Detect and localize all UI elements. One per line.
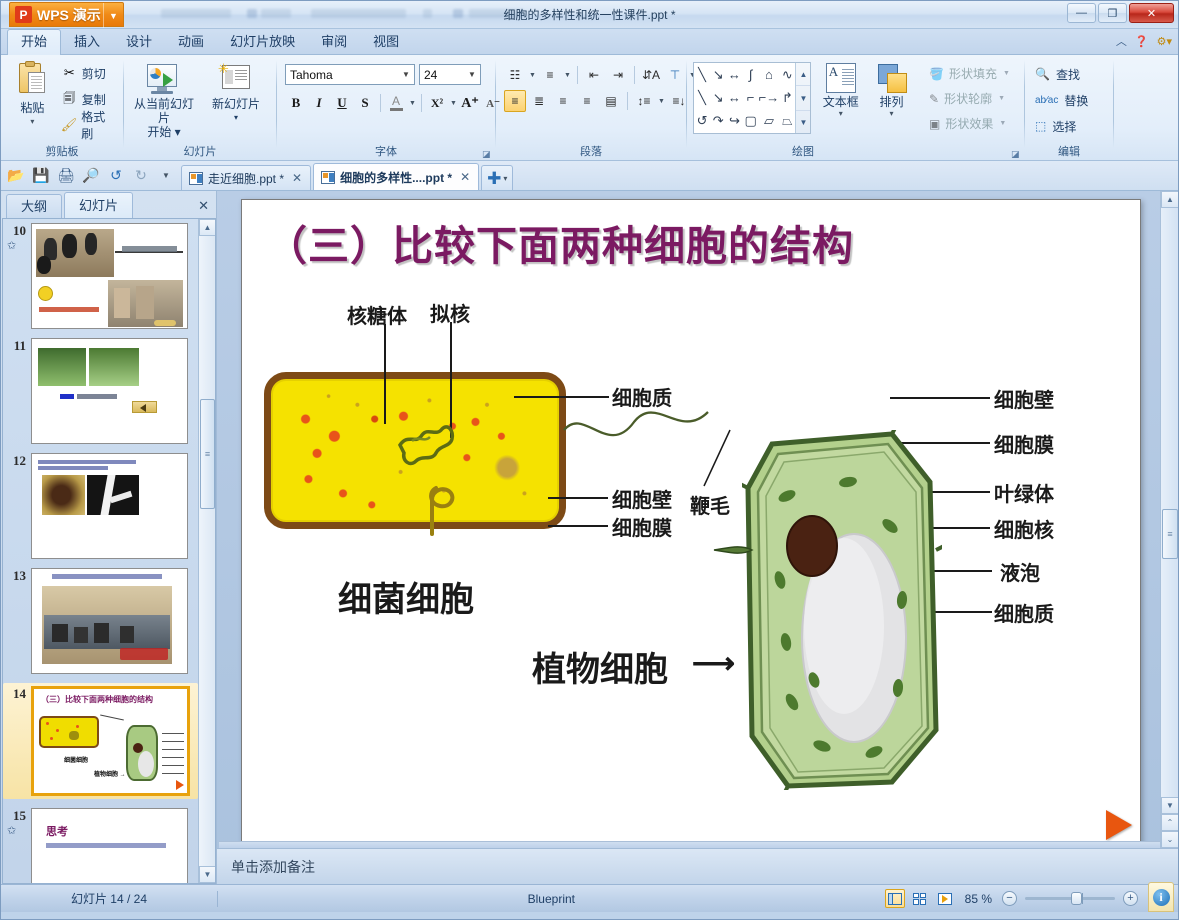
thumbnail-canvas [31, 568, 188, 674]
label-nucleus: 细胞核 [994, 514, 1054, 543]
shape-scribble-icon[interactable]: ∿ [779, 63, 795, 86]
leader-cell-wall-bact [548, 497, 608, 499]
shape-gallery-scroll[interactable]: ▲ ▼ ▼ [795, 63, 810, 133]
thumbnail-canvas [31, 223, 188, 329]
ppt-file-icon [321, 171, 335, 184]
shape-elbow-arrow-icon[interactable]: ⌐→ [759, 86, 780, 109]
zoom-default-tick [1082, 893, 1083, 904]
scrollbar-thumb[interactable]: ≡ [200, 399, 215, 509]
numbering-caret[interactable]: ▼ [563, 72, 572, 79]
label-flagellum: 鞭毛 [690, 490, 730, 519]
justify-button[interactable]: ≡ [576, 90, 598, 112]
font-size-value: 24 [424, 68, 437, 82]
slide-scroll-up-button[interactable]: ▲ [1161, 191, 1179, 208]
font-color-button[interactable]: A [385, 92, 407, 114]
chevron-up-icon[interactable]: ︿ [1116, 33, 1127, 49]
leader-nucleoid [450, 322, 452, 438]
drawing-dialog-launcher[interactable]: ◪ [1011, 149, 1022, 160]
align-right-button[interactable]: ≡ [552, 90, 574, 112]
thumbnail-canvas: 思考 [31, 808, 188, 884]
minimize-button[interactable]: — [1067, 3, 1096, 23]
shape-effects-button[interactable]: ▣ 形状效果 ▼ [925, 111, 1007, 136]
notes-pane[interactable]: 单击添加备注 [217, 848, 1178, 884]
label-cell-membrane-plant: 细胞膜 [994, 429, 1054, 458]
thumbnail-number: 12 [5, 453, 31, 469]
replace-icon: ab⁄ac [1035, 95, 1058, 106]
label-cell-membrane-bact: 细胞膜 [612, 512, 672, 541]
zoom-slider[interactable] [1025, 897, 1115, 900]
paste-label: 粘贴 [20, 99, 44, 116]
start-slide-label-1: 从当前幻灯片 [130, 97, 198, 125]
plus-icon[interactable]: ✚ [487, 170, 501, 187]
new-slide-icon: ✳ [216, 61, 256, 97]
textbox-label: 文本框 [823, 95, 859, 109]
redo-icon[interactable]: ↻ [130, 164, 152, 186]
tab-slides[interactable]: 幻灯片 [64, 192, 133, 218]
new-tab-caret-icon[interactable]: ▾ [503, 174, 507, 183]
align-left-button[interactable]: ≡ [504, 90, 526, 112]
label-plant-cell-name: 植物细胞 [532, 642, 668, 691]
tab-design[interactable]: 设计 [113, 29, 165, 55]
thumbnail-number: 10 [5, 223, 31, 239]
tab-animation[interactable]: 动画 [165, 29, 217, 55]
format-painter-label: 格式刷 [81, 108, 114, 142]
zoom-out-button[interactable]: − [1002, 891, 1017, 906]
status-bar: 幻灯片 14 / 24 Blueprint 85 % − + i [1, 884, 1178, 912]
document-tab-2-close-icon[interactable]: ✕ [460, 170, 470, 184]
replace-label: 替换 [1064, 92, 1088, 109]
ribbon-group-drawing: ╲ ↘ ↔ ∫ ⌂ ∿ ╲ ↘ ↔ ⌐ ⌐→ ↱ ↺ ↷ ↪ [687, 55, 919, 161]
start-from-current-slide-icon [144, 61, 184, 97]
shape-arrow2-icon[interactable]: ↘ [710, 86, 726, 109]
arrange-caret[interactable]: ▾ [890, 109, 894, 118]
start-slide-label-2: 开始 ▾ [147, 125, 180, 139]
shape-double-arrow2-icon[interactable]: ↔ [726, 86, 742, 109]
slide-scroll-down-button[interactable]: ▼ [1161, 797, 1179, 814]
thumbnail-number: 13 [5, 568, 31, 584]
slide-title[interactable]: （三）比较下面两种细胞的结构 [266, 212, 854, 272]
ribbon-group-paragraph: ☷ ▼ ≡ ▼ ⇤ ⇥ ⇵A ⊤ ▼ ≡ ≣ ≡ ≡ ▤ [496, 55, 686, 161]
shape-curve-conn3-icon[interactable]: ↪ [726, 110, 742, 133]
shape-outline-label: 形状轮廓 [944, 90, 992, 107]
new-document-tab[interactable]: ✚ ▾ [481, 165, 513, 190]
ribbon: 粘贴 ▾ ✂ 剪切 🗐 复制 🖌 格式刷 [1, 55, 1178, 161]
numbering-button[interactable]: ≡ [539, 64, 561, 86]
shape-effects-caret[interactable]: ▼ [998, 120, 1007, 127]
scissors-icon: ✂ [61, 65, 78, 82]
slide-show-view-button[interactable] [935, 889, 955, 908]
arrange-button[interactable]: 排列 ▾ [870, 58, 913, 118]
zoom-level: 85 % [960, 892, 997, 906]
shape-elbow-arrow2-icon[interactable]: ↱ [779, 86, 795, 109]
window-controls: — ❐ ✕ [1067, 3, 1174, 23]
clipboard-group-title: 剪贴板 [7, 144, 117, 161]
copy-icon: 🗐 [61, 91, 78, 108]
quick-access-toolbar: 📂 💾 🖨 🔎 ↺ ↻ ▼ [1, 160, 181, 190]
italic-button[interactable]: I [308, 92, 330, 114]
document-tab-1[interactable]: 走近细胞.ppt * ✕ [181, 165, 311, 190]
plant-cell-arrow-icon: ⟶ [692, 646, 735, 681]
bullets-button[interactable]: ☷ [504, 64, 526, 86]
slide-canvas[interactable]: （三）比较下面两种细胞的结构 核糖体 [241, 199, 1141, 847]
workspace: 大纲 幻灯片 ✕ 10 ✩ [1, 191, 1178, 884]
shape-parallelogram-icon[interactable]: ▱ [759, 110, 780, 133]
paste-dropdown-caret[interactable]: ▾ [30, 117, 34, 126]
font-name-input[interactable]: Tahoma ▼ [285, 64, 415, 85]
label-chloroplast: 叶绿体 [994, 478, 1054, 507]
paste-button[interactable]: 粘贴 ▾ [7, 58, 58, 126]
thumbnail-slide-13[interactable]: 13 [3, 568, 198, 674]
wps-presentation-window: P WPS 演示 ▼ 细胞的多样性和统一性课件.ppt * — ❐ ✕ 开始 插… [0, 0, 1179, 920]
previous-slide-button[interactable]: ⌃ [1161, 814, 1179, 831]
normal-view-button[interactable] [885, 889, 905, 908]
customize-icon[interactable]: ▼ [155, 164, 177, 186]
scroll-up-button[interactable]: ▲ [199, 219, 216, 236]
thumbnail-title: （三）比较下面两种细胞的结构 [41, 694, 171, 704]
flagellum-shape [562, 396, 712, 466]
document-tab-1-label: 走近细胞.ppt * [208, 170, 284, 187]
notes-placeholder: 单击添加备注 [217, 857, 315, 877]
shape-gallery[interactable]: ╲ ↘ ↔ ∫ ⌂ ∿ ╲ ↘ ↔ ⌐ ⌐→ ↱ ↺ ↷ ↪ [693, 62, 811, 134]
select-icon: ⬚ [1035, 119, 1046, 133]
shape-curve-icon[interactable]: ∫ [743, 63, 759, 86]
font-group-title: 字体 [283, 144, 489, 161]
save-icon[interactable]: 💾 [30, 164, 52, 186]
chevron-down-icon[interactable]: ▼ [464, 65, 480, 84]
new-slide-label: 新幻灯片 [212, 97, 260, 111]
cut-button[interactable]: ✂ 剪切 [58, 60, 117, 86]
leader-cell-membrane-bact [548, 525, 608, 527]
select-label: 选择 [1052, 118, 1076, 135]
ribbon-group-slides: 从当前幻灯片 开始 ▾ ✳ 新幻灯片 ▾ 幻灯片 [124, 55, 276, 161]
cut-label: 剪切 [82, 65, 106, 82]
slide-canvas-wrapper: （三）比较下面两种细胞的结构 核糖体 [241, 199, 1141, 847]
thumbnail-slide-14[interactable]: 14 （三）比较下面两种细胞的结构 细菌细胞 植物细胞 → [3, 683, 198, 799]
increase-font-size-button[interactable]: A⁺ [459, 92, 481, 114]
tab-start[interactable]: 开始 [7, 29, 61, 55]
thumbnail-slide-11[interactable]: 11 [3, 338, 198, 444]
format-painter-button[interactable]: 🖌 格式刷 [58, 112, 117, 138]
close-navigator-icon[interactable]: ✕ [198, 198, 209, 214]
arrange-icon [872, 61, 912, 95]
slide-area-scrollbar[interactable]: ▲ ≡ ▼ ⌃ ⌄ [1160, 191, 1178, 848]
close-button[interactable]: ✕ [1129, 3, 1174, 23]
label-ribosome: 核糖体 [347, 300, 407, 329]
shape-curve-conn2-icon[interactable]: ↷ [710, 110, 726, 133]
textbox-caret[interactable]: ▾ [839, 109, 843, 118]
find-button[interactable]: 🔍 查找 [1031, 61, 1080, 87]
slide-show-icon [938, 893, 952, 905]
info-badge[interactable]: i [1148, 882, 1174, 912]
align-text-button[interactable]: ⊤ [664, 64, 686, 86]
zoom-in-button[interactable]: + [1123, 891, 1138, 906]
group-divider [1113, 60, 1114, 148]
leader-ribosome [384, 324, 386, 424]
ribbon-right-controls: ︿ ❓ ⚙▾ [1116, 33, 1172, 49]
document-tab-2-label: 细胞的多样性....ppt * [340, 169, 452, 186]
thumbnail-number: 11 [5, 338, 31, 354]
thumbnail-title: 思考 [46, 823, 68, 839]
decrease-indent-button[interactable]: ⇤ [583, 64, 605, 86]
tab-insert[interactable]: 插入 [61, 29, 113, 55]
increase-indent-button[interactable]: ⇥ [607, 64, 629, 86]
thumbnail-scroll-region: 10 ✩ [3, 219, 198, 883]
undo-icon[interactable]: ↺ [105, 164, 127, 186]
superscript-button[interactable]: X² [426, 92, 448, 114]
shape-freeform-icon[interactable]: ⌂ [759, 63, 780, 86]
strikethrough-button[interactable]: S [354, 92, 376, 114]
paragraph-group-title: 段落 [502, 144, 680, 161]
slide-navigator-pane: 大纲 幻灯片 ✕ 10 ✩ [1, 191, 217, 884]
label-cell-wall-plant: 细胞壁 [994, 384, 1054, 413]
shape-outline-caret[interactable]: ▼ [997, 95, 1006, 102]
ribbon-group-editing: 🔍 查找 ab⁄ac 替换 ⬚ 选择 编辑 [1025, 55, 1113, 161]
shape-effects-icon: ▣ [929, 117, 940, 131]
font-name-value: Tahoma [290, 68, 333, 82]
scroll-down-button[interactable]: ▼ [199, 866, 216, 883]
replace-button[interactable]: ab⁄ac 替换 [1031, 87, 1088, 113]
chevron-down-icon[interactable]: ▼ [398, 65, 414, 84]
find-icon: 🔍 [1035, 67, 1050, 81]
slide-editing-area: （三）比较下面两种细胞的结构 核糖体 [217, 191, 1178, 884]
tab-view[interactable]: 视图 [360, 29, 412, 55]
thumbnail-canvas [31, 338, 188, 444]
editing-group-title: 编辑 [1031, 144, 1107, 161]
shape-elbow-icon[interactable]: ⌐ [743, 86, 759, 109]
drawing-group-title: 绘图 [693, 144, 913, 161]
view-and-zoom-controls: 85 % − + [885, 889, 1178, 908]
shape-arrow-icon[interactable]: ↘ [710, 63, 726, 86]
shape-effects-label: 形状效果 [945, 115, 993, 132]
gallery-scroll-up-icon[interactable]: ▲ [796, 63, 810, 85]
slide-sorter-icon [913, 893, 926, 905]
maximize-button[interactable]: ❐ [1098, 3, 1127, 23]
font-color-icon: A [390, 95, 403, 111]
title-bar: P WPS 演示 ▼ 细胞的多样性和统一性课件.ppt * — ❐ ✕ [1, 1, 1178, 29]
start-from-current-slide-button[interactable]: 从当前幻灯片 开始 ▾ [130, 58, 198, 139]
nucleus-connector [712, 530, 772, 570]
notes-splitter[interactable] [219, 841, 1160, 848]
window-title: 细胞的多样性和统一性课件.ppt * [1, 6, 1178, 23]
line-spacing-caret[interactable]: ▼ [657, 98, 666, 105]
bold-button[interactable]: B [285, 92, 307, 114]
help-icon[interactable]: ❓ [1135, 35, 1149, 48]
print-preview-icon[interactable]: 🔎 [80, 164, 102, 186]
document-tab-1-close-icon[interactable]: ✕ [292, 171, 302, 185]
thumbnail-slide-12[interactable]: 12 [3, 453, 198, 559]
play-triangle-icon[interactable] [1106, 810, 1132, 840]
underline-button[interactable]: U [331, 92, 353, 114]
print-icon[interactable]: 🖨 [55, 164, 77, 186]
format-painter-icon: 🖌 [61, 117, 78, 134]
slide-sorter-view-button[interactable] [910, 889, 930, 908]
ribbon-group-font: Tahoma ▼ 24 ▼ B I U S A [277, 55, 495, 161]
animation-star-icon: ✩ [7, 239, 16, 252]
thumbnail-canvas: （三）比较下面两种细胞的结构 细菌细胞 植物细胞 → [31, 686, 190, 796]
find-label: 查找 [1056, 66, 1080, 83]
slide-thumbnail-list: 10 ✩ [2, 218, 216, 884]
zoom-slider-handle[interactable] [1071, 892, 1082, 905]
textbox-icon [821, 61, 861, 95]
shape-outline-icon: ✎ [929, 92, 939, 106]
plant-cell-shape [742, 430, 942, 790]
document-tab-2[interactable]: 细胞的多样性....ppt * ✕ [313, 163, 479, 190]
gallery-scroll-down-icon[interactable]: ▼ [796, 85, 810, 111]
new-slide-button[interactable]: ✳ 新幻灯片 ▾ [202, 58, 270, 125]
shape-curve-conn-icon[interactable]: ↺ [694, 110, 710, 133]
superscript-caret[interactable]: ▼ [449, 100, 458, 107]
shape-fill-icon: 🪣 [929, 67, 944, 81]
shape-style-commands: 🪣 形状填充 ▼ ✎ 形状轮廓 ▼ ▣ 形状效果 ▼ ◪ [919, 55, 1024, 161]
shape-line-icon[interactable]: ╲ [694, 63, 710, 86]
shape-fill-button[interactable]: 🪣 形状填充 ▼ [925, 61, 1011, 86]
textbox-button[interactable]: 文本框 ▾ [817, 58, 864, 118]
text-direction-button[interactable]: ⇵A [640, 64, 662, 86]
mesosome-shape [392, 468, 492, 548]
thumbnail-number: 15 [5, 808, 31, 824]
shape-style-spacer [925, 144, 1018, 161]
ppt-file-icon [189, 172, 203, 185]
distributed-button[interactable]: ▤ [600, 90, 622, 112]
tab-slideshow[interactable]: 幻灯片放映 [217, 29, 308, 55]
tab-review[interactable]: 审阅 [308, 29, 360, 55]
open-icon[interactable]: 📂 [5, 164, 27, 186]
ribbon-group-clipboard: 粘贴 ▾ ✂ 剪切 🗐 复制 🖌 格式刷 [1, 55, 123, 161]
thumbnail-slide-10[interactable]: 10 ✩ [3, 223, 198, 329]
label-vacuole: 液泡 [1000, 557, 1040, 586]
tab-outline[interactable]: 大纲 [6, 194, 62, 218]
align-center-button[interactable]: ≣ [528, 90, 550, 112]
info-icon: i [1153, 889, 1170, 906]
settings-icon[interactable]: ⚙▾ [1157, 35, 1172, 48]
animation-star-icon: ✩ [7, 824, 16, 837]
arrange-label: 排列 [880, 95, 904, 109]
slide-scrollbar-thumb[interactable]: ≡ [1162, 509, 1178, 559]
shape-trapezoid-icon[interactable]: ⏢ [779, 110, 795, 133]
shape-fill-caret[interactable]: ▼ [1002, 70, 1011, 77]
leader-cell-wall-plant [890, 397, 990, 399]
font-dialog-launcher[interactable]: ◪ [482, 149, 493, 160]
line-spacing-button[interactable]: ↕≡ [633, 90, 655, 112]
copy-label: 复制 [82, 91, 106, 108]
slides-group-title: 幻灯片 [130, 144, 270, 161]
next-slide-button[interactable]: ⌄ [1161, 831, 1179, 848]
thumbnail-scrollbar[interactable]: ▲ ≡ ▼ [198, 219, 215, 883]
gallery-more-icon[interactable]: ▼ [796, 111, 810, 133]
ribbon-tab-bar: 开始 插入 设计 动画 幻灯片放映 审阅 视图 ︿ ❓ ⚙▾ [1, 29, 1178, 55]
label-bacteria-cell-name: 细菌细胞 [338, 572, 474, 621]
select-button[interactable]: ⬚ 选择 [1031, 113, 1076, 139]
shape-rectangle-icon[interactable]: ▢ [743, 110, 759, 133]
thumbnail-slide-15[interactable]: 15 ✩ 思考 [3, 808, 198, 884]
theme-name: Blueprint [218, 892, 885, 906]
shape-double-arrow-icon[interactable]: ↔ [726, 63, 742, 86]
thumbnail-canvas [31, 453, 188, 559]
font-color-caret[interactable]: ▼ [408, 100, 417, 107]
shape-outline-button[interactable]: ✎ 形状轮廓 ▼ [925, 86, 1006, 111]
paste-icon [17, 61, 47, 97]
new-slide-caret[interactable]: ▾ [234, 111, 238, 125]
label-cytoplasm-plant: 细胞质 [994, 598, 1054, 627]
shape-fill-label: 形状填充 [949, 65, 997, 82]
navigator-tabs: 大纲 幻灯片 ✕ [1, 191, 216, 218]
bullets-caret[interactable]: ▼ [528, 72, 537, 79]
font-size-input[interactable]: 24 ▼ [419, 64, 481, 85]
slide-counter: 幻灯片 14 / 24 [1, 890, 217, 907]
document-tab-bar: 📂 💾 🖨 🔎 ↺ ↻ ▼ 走近细胞.ppt * ✕ 细胞的多样性....ppt… [1, 161, 1178, 191]
label-cell-wall-bact: 细胞壁 [612, 484, 672, 513]
normal-view-icon [888, 893, 902, 905]
thumbnail-number: 14 [5, 686, 31, 702]
shape-line-square-icon[interactable]: ╲ [694, 86, 710, 109]
